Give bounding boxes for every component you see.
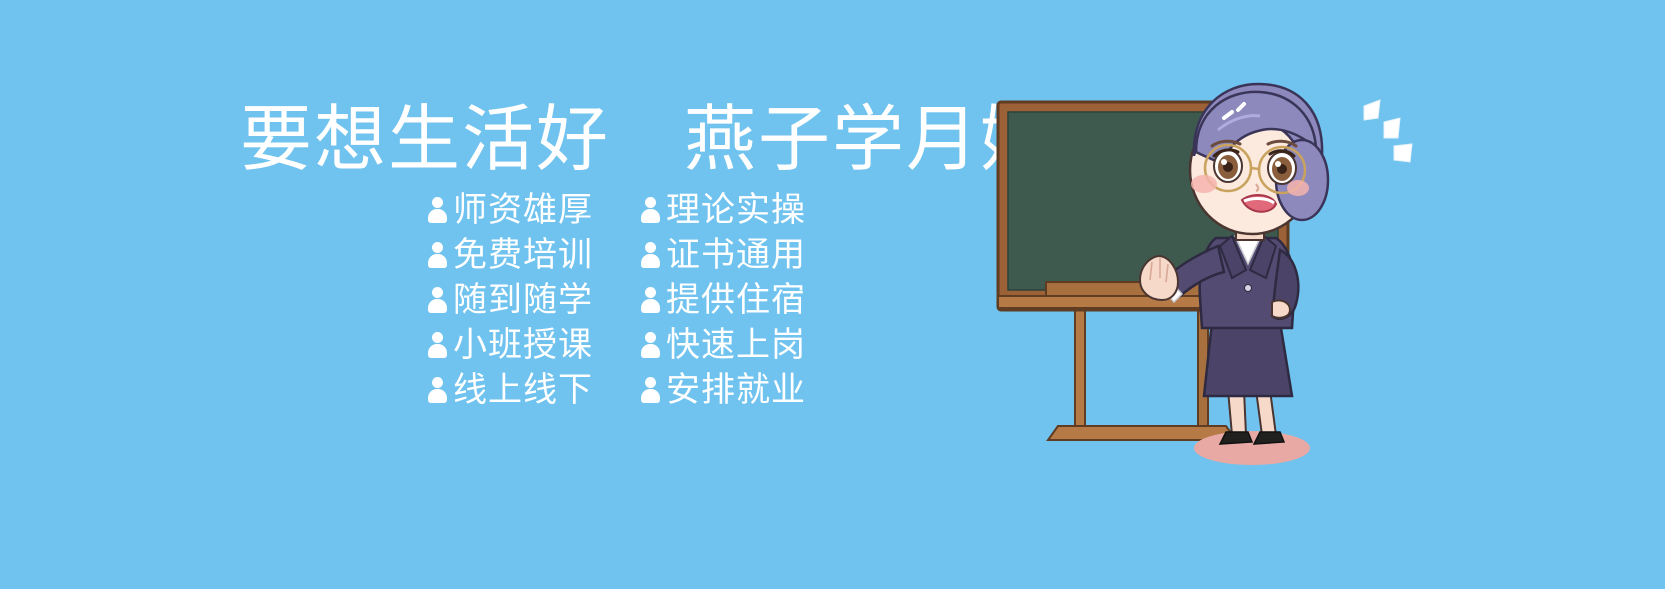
list-item: 线上线下	[428, 370, 593, 411]
list-item: 快速上岗	[641, 325, 806, 366]
feature-label: 安排就业	[666, 370, 806, 411]
list-item: 证书通用	[641, 235, 806, 276]
promo-banner: 要想生活好 燕子学月嫂 师资雄厚 免费培训 随到随学 小班授课	[0, 0, 1665, 589]
person-icon	[641, 197, 660, 223]
sparkle-icon	[1364, 100, 1412, 162]
list-item: 安排就业	[641, 370, 806, 411]
person-icon	[428, 197, 447, 223]
feature-label: 理论实操	[666, 190, 806, 231]
person-icon	[641, 332, 660, 358]
list-item: 免费培训	[428, 235, 593, 276]
person-icon	[428, 377, 447, 403]
person-icon	[641, 242, 660, 268]
page-title: 要想生活好 燕子学月嫂	[240, 104, 980, 176]
teacher-with-blackboard-illustration	[980, 60, 1450, 530]
feature-label: 免费培训	[453, 235, 593, 276]
list-item: 提供住宿	[641, 280, 806, 321]
feature-column-right: 理论实操 证书通用 提供住宿 快速上岗 安排就业	[641, 190, 806, 411]
list-item: 小班授课	[428, 325, 593, 366]
list-item: 随到随学	[428, 280, 593, 321]
person-icon	[428, 242, 447, 268]
feature-label: 小班授课	[453, 325, 593, 366]
list-item: 师资雄厚	[428, 190, 593, 231]
list-item: 理论实操	[641, 190, 806, 231]
person-icon	[641, 377, 660, 403]
feature-label: 快速上岗	[666, 325, 806, 366]
feature-label: 提供住宿	[666, 280, 806, 321]
person-icon	[428, 287, 447, 313]
feature-list: 师资雄厚 免费培训 随到随学 小班授课 线上线下	[240, 190, 980, 411]
person-icon	[641, 287, 660, 313]
feature-label: 线上线下	[453, 370, 593, 411]
person-icon	[428, 332, 447, 358]
text-block: 要想生活好 燕子学月嫂 师资雄厚 免费培训 随到随学 小班授课	[240, 104, 980, 411]
feature-label: 证书通用	[666, 235, 806, 276]
feature-label: 随到随学	[453, 280, 593, 321]
character-shadow	[1194, 431, 1310, 465]
feature-label: 师资雄厚	[453, 190, 593, 231]
feature-column-left: 师资雄厚 免费培训 随到随学 小班授课 线上线下	[428, 190, 593, 411]
